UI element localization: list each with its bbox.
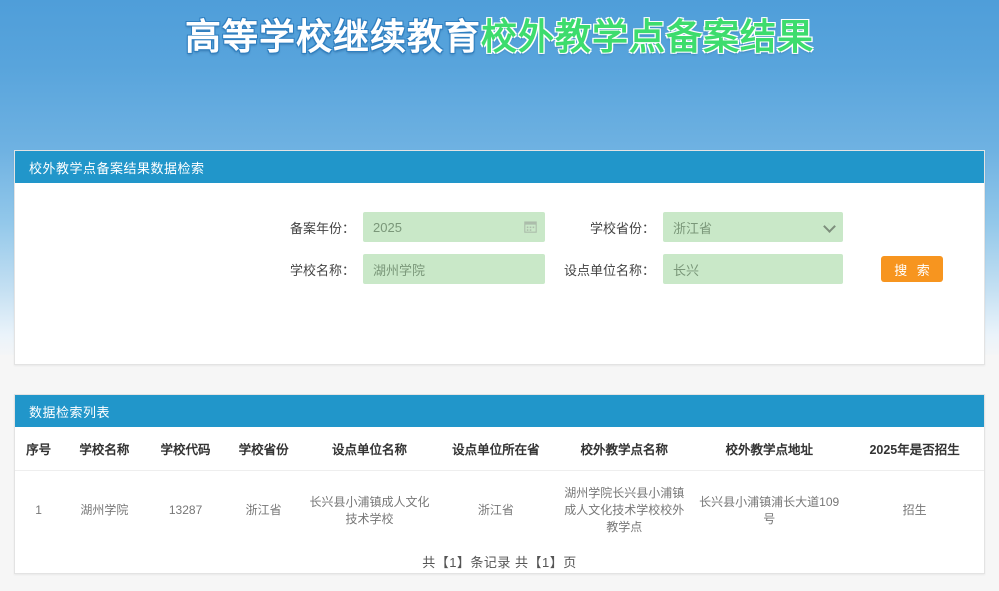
page-banner: 高等学校继续教育校外教学点备案结果	[0, 0, 999, 112]
cell-unit-province: 浙江省	[436, 471, 555, 551]
page-title: 高等学校继续教育校外教学点备案结果	[185, 13, 814, 61]
result-list-panel: 数据检索列表 序号 学校名称 学校代码 学校省份 设点单位名称 设点单位所在省 …	[14, 394, 985, 574]
column-header-school-province[interactable]: 学校省份	[225, 427, 303, 471]
cell-index: 1	[15, 471, 62, 551]
column-header-site-name[interactable]: 校外教学点名称	[555, 427, 693, 471]
search-panel-title: 校外教学点备案结果数据检索	[29, 158, 205, 177]
column-header-school-code[interactable]: 学校代码	[147, 427, 225, 471]
cell-site-address: 长兴县小浦镇浦长大道109号	[693, 471, 845, 551]
cell-site-name: 湖州学院长兴县小浦镇成人文化技术学校校外教学点	[555, 471, 693, 551]
record-year-label: 备案年份：	[15, 218, 363, 237]
record-year-value: 2025	[373, 220, 402, 235]
unit-name-field-wrap: 长兴	[663, 254, 843, 284]
school-name-input[interactable]: 湖州学院	[363, 254, 545, 284]
table-header-row: 序号 学校名称 学校代码 学校省份 设点单位名称 设点单位所在省 校外教学点名称…	[15, 427, 984, 471]
school-name-field-wrap: 湖州学院	[363, 254, 545, 284]
cell-school-province: 浙江省	[225, 471, 303, 551]
search-panel: 校外教学点备案结果数据检索 备案年份： 2025 学校省份：	[14, 150, 985, 365]
column-header-school-name[interactable]: 学校名称	[62, 427, 146, 471]
column-header-unit-province[interactable]: 设点单位所在省	[436, 427, 555, 471]
school-province-field-wrap: 浙江省	[663, 212, 843, 242]
column-header-unit-name[interactable]: 设点单位名称	[303, 427, 437, 471]
unit-name-label: 设点单位名称：	[545, 260, 663, 279]
search-form-row-1: 备案年份： 2025 学校省份： 浙江省	[15, 207, 984, 247]
result-table: 序号 学校名称 学校代码 学校省份 设点单位名称 设点单位所在省 校外教学点名称…	[15, 427, 984, 550]
search-form-row-2: 学校名称： 湖州学院 设点单位名称： 长兴 搜 索	[15, 249, 984, 289]
record-year-field-wrap: 2025	[363, 212, 545, 242]
school-name-value: 湖州学院	[373, 260, 425, 279]
cell-school-code: 13287	[147, 471, 225, 551]
result-list-header: 数据检索列表	[15, 395, 984, 427]
school-province-select[interactable]: 浙江省	[663, 212, 843, 242]
page-title-highlight: 校外教学点备案结果	[481, 16, 814, 57]
search-form: 备案年份： 2025 学校省份： 浙江省	[15, 183, 984, 365]
unit-name-value: 长兴	[673, 260, 699, 279]
school-province-value: 浙江省	[673, 218, 712, 237]
cell-enrolling: 招生	[845, 471, 984, 551]
record-year-input[interactable]: 2025	[363, 212, 545, 242]
calendar-icon[interactable]	[524, 220, 537, 233]
table-row[interactable]: 1 湖州学院 13287 浙江省 长兴县小浦镇成人文化技术学校 浙江省 湖州学院…	[15, 471, 984, 551]
search-button[interactable]: 搜 索	[881, 256, 943, 282]
cell-unit-name: 长兴县小浦镇成人文化技术学校	[303, 471, 437, 551]
cell-school-name: 湖州学院	[62, 471, 146, 551]
school-province-label: 学校省份：	[545, 218, 663, 237]
column-header-index[interactable]: 序号	[15, 427, 62, 471]
column-header-enrolling[interactable]: 2025年是否招生	[845, 427, 984, 471]
page-title-primary: 高等学校继续教育	[185, 16, 481, 57]
search-panel-header: 校外教学点备案结果数据检索	[15, 151, 984, 183]
unit-name-input[interactable]: 长兴	[663, 254, 843, 284]
result-list-title: 数据检索列表	[29, 402, 110, 421]
pagination-summary: 共【1】条记录 共【1】页	[15, 550, 984, 571]
school-name-label: 学校名称：	[15, 260, 363, 279]
column-header-site-address[interactable]: 校外教学点地址	[693, 427, 845, 471]
